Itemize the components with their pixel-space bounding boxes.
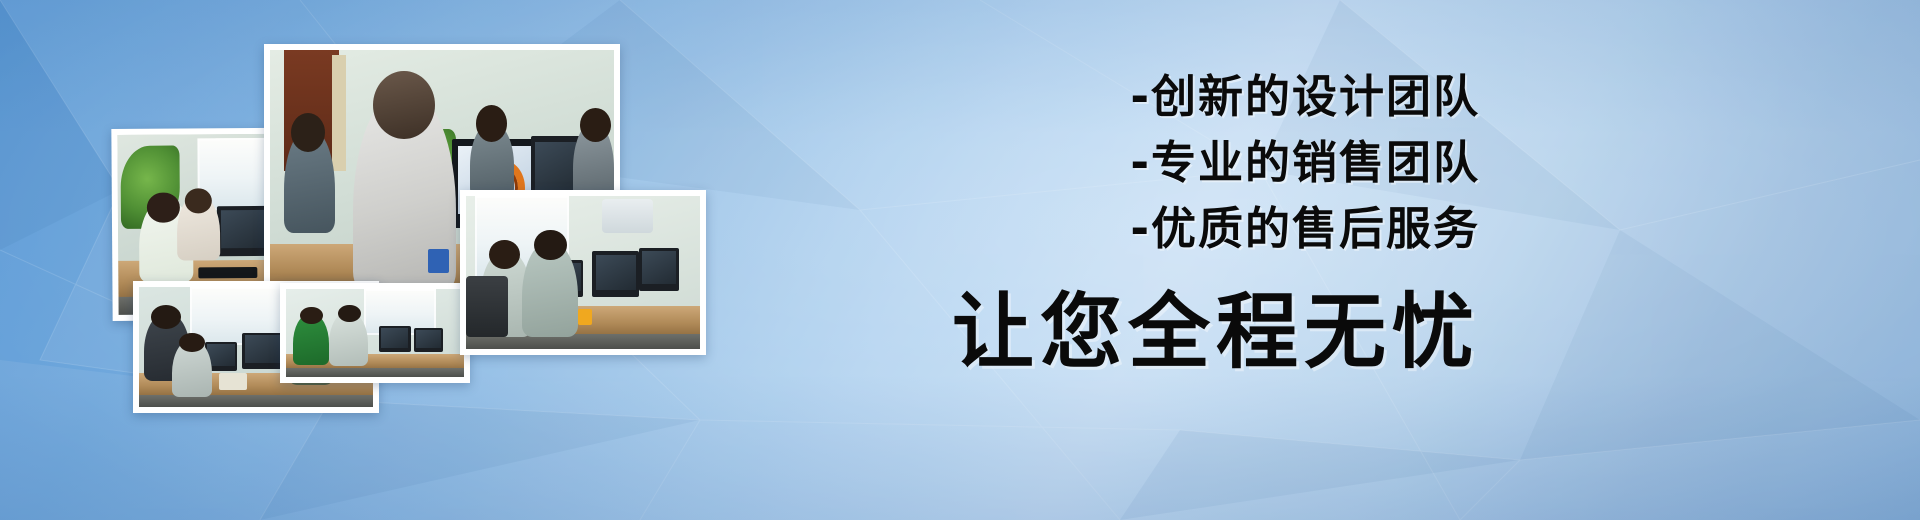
photo-collage <box>0 0 780 520</box>
feature-bullet-item: -优质的售后服务 <box>860 196 1480 262</box>
collage-photo-team-window-workstations <box>460 190 706 355</box>
marketing-text-block: -创新的设计团队 -专业的销售团队 -优质的售后服务 让您全程无忧 <box>860 64 1480 382</box>
promo-banner: -创新的设计团队 -专业的销售团队 -优质的售后服务 让您全程无忧 <box>0 0 1920 520</box>
feature-bullet-list: -创新的设计团队 -专业的销售团队 -优质的售后服务 <box>860 64 1480 262</box>
collage-photo-staff-working-green-shirt <box>280 283 470 383</box>
feature-bullet-item: -专业的销售团队 <box>860 130 1480 196</box>
feature-bullet-item: -创新的设计团队 <box>860 64 1480 130</box>
banner-headline: 让您全程无忧 <box>860 284 1480 382</box>
